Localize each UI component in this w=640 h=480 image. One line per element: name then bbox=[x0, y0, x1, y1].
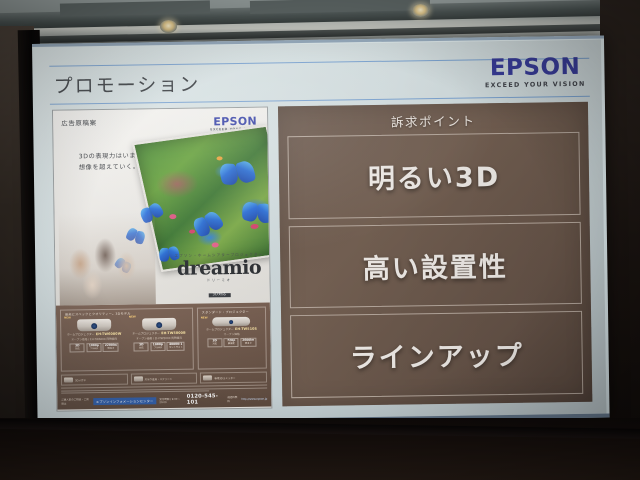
product-group-title: スタンダード・プロジェクター bbox=[202, 309, 249, 315]
projector-icon bbox=[212, 317, 250, 327]
contact-hours: 受付時間 / 9:00〜20:00 bbox=[159, 397, 184, 404]
new-badge: NEW bbox=[129, 315, 136, 318]
key-points-list: 明るい3D 高い設置性 ラインアップ bbox=[287, 132, 583, 398]
ad-copy: 3Dの表現力はいま。 想像を超えていく。 bbox=[79, 151, 143, 174]
spec-label: 対応 bbox=[75, 347, 80, 350]
projector-icon bbox=[142, 318, 176, 331]
contact-bar: ご購入前のご相談・ご質問は エプソンインフォメーションセンター 受付時間 / 9… bbox=[61, 393, 267, 408]
new-badge: NEW bbox=[64, 316, 71, 319]
butterfly-icon bbox=[190, 210, 224, 239]
epson-logo: EPSON EXCEED YOUR VISION bbox=[485, 56, 586, 89]
key-point-item-2: 高い設置性 bbox=[289, 222, 582, 309]
spec-chip: 3D対応 bbox=[207, 338, 222, 348]
accessory-label: 天吊り金具・スクリーン bbox=[145, 376, 172, 380]
spec-chip: 3D対応 bbox=[134, 342, 149, 352]
key-point-label: ラインアップ bbox=[349, 334, 524, 376]
product-model-number: EH-TW6000W bbox=[96, 332, 122, 336]
accessory-swatch bbox=[134, 376, 143, 381]
spec-label: フルHD bbox=[154, 346, 162, 349]
contact-phone: 0120-545-101 bbox=[187, 394, 225, 407]
spec-label: 対応 bbox=[139, 346, 144, 349]
spec-chip: 40000:1コントラスト bbox=[167, 341, 185, 351]
contact-center-name: エプソンインフォメーションセンター bbox=[93, 397, 157, 405]
spec-row: 3D対応 1080pフルHD 40000:1コントラスト bbox=[128, 341, 190, 351]
epson-tagline: EXCEED YOUR VISION bbox=[485, 81, 586, 89]
accessory-swatch bbox=[203, 375, 212, 380]
product-prefix: ホームプロジェクター bbox=[206, 327, 234, 331]
ad-mockup-visual: 広告原稿案 EPSON EXCEED YOUR VISION 3Dの表現力はいま… bbox=[53, 108, 270, 306]
spec-label: コントラスト bbox=[169, 345, 183, 348]
key-point-label: 明るい3D bbox=[368, 155, 501, 196]
family-photo bbox=[59, 212, 156, 305]
key-point-label: 高い設置性 bbox=[363, 244, 509, 285]
projection-screen: プロモーション EPSON EXCEED YOUR VISION 広告原稿案 E… bbox=[32, 36, 610, 426]
ad-copy-line-1: 3Dの表現力はいま。 bbox=[79, 151, 143, 163]
product-subnote: オープン価格 / EH-TW5000 同時発売 bbox=[128, 335, 190, 340]
spec-label: フルHD bbox=[90, 347, 98, 350]
contact-url: http://www.epson.jp bbox=[241, 398, 267, 401]
accessory-item: 専用3Dエミッター bbox=[200, 372, 267, 384]
product-prefix: ホームプロジェクター bbox=[67, 332, 95, 336]
ad-mockup-label: 広告原稿案 bbox=[61, 117, 97, 128]
butterfly-icon bbox=[217, 160, 256, 186]
spec-label: 明るさ bbox=[107, 346, 114, 349]
page-title: プロモーション bbox=[53, 70, 200, 99]
butterfly-icon bbox=[242, 201, 270, 224]
product-card: NEW ホームプロジェクター EH-TW510S オープン価格 3D対応 720… bbox=[200, 317, 264, 348]
product-group-standard: スタンダード・プロジェクター NEW ホームプロジェクター EH-TW510S … bbox=[197, 307, 267, 370]
spec-row: 3D対応 1080pフルHD 2200lm明るさ bbox=[63, 342, 125, 352]
spec-label: 解像度 bbox=[228, 342, 235, 345]
ad-copy-line-2: 想像を超えていく。 bbox=[79, 162, 143, 174]
key-point-item-3: ラインアップ bbox=[290, 311, 583, 398]
product-subnote: オープン価格 / EH-TW6000 同時発売 bbox=[63, 336, 125, 341]
ad-mockup: 広告原稿案 EPSON EXCEED YOUR VISION 3Dの表現力はいま… bbox=[52, 107, 272, 412]
presentation-slide: プロモーション EPSON EXCEED YOUR VISION 広告原稿案 E… bbox=[35, 40, 606, 422]
accessory-swatch bbox=[64, 377, 73, 382]
spec-chip: 720p解像度 bbox=[224, 337, 239, 347]
key-points-header: 訴求ポイント bbox=[278, 109, 588, 133]
spec-label: 対応 bbox=[212, 342, 217, 345]
product-row: 最高にスペックとクオリティー。3Dモデル NEW ホームプロジェクター EH-T… bbox=[60, 307, 267, 372]
accessory-label: 3Dメガネ bbox=[75, 378, 86, 382]
ad-product-lineup: 最高にスペックとクオリティー。3Dモデル NEW ホームプロジェクター EH-T… bbox=[56, 302, 272, 409]
product-group-premium: 最高にスペックとクオリティー。3Dモデル NEW ホームプロジェクター EH-T… bbox=[60, 308, 194, 372]
accessory-row: 3Dメガネ 天吊り金具・スクリーン 専用3Dエミッター bbox=[61, 372, 267, 386]
dreamio-branding: エプソン・ホームシアタープロジェクター dreamio ドリーミオ 3D対応 bbox=[174, 254, 263, 299]
spec-label: 明るさ bbox=[245, 341, 252, 344]
dreamio-3d-chip: 3D対応 bbox=[208, 293, 230, 297]
contact-lead: ご購入前のご相談・ご質問は bbox=[61, 398, 90, 406]
product-prefix: ホームプロジェクター bbox=[132, 331, 160, 335]
spec-chip: 3D対応 bbox=[70, 343, 85, 353]
spec-row: 3D対応 720p解像度 2600lm明るさ bbox=[200, 337, 263, 347]
key-points-panel: 訴求ポイント 明るい3D 高い設置性 ラインアップ bbox=[278, 102, 592, 407]
epson-wordmark: EPSON bbox=[485, 56, 586, 80]
projector-icon bbox=[77, 319, 111, 332]
product-model-number: EH-TW510S bbox=[235, 327, 257, 331]
product-group-title: 最高にスペックとクオリティー。3Dモデル bbox=[65, 311, 131, 317]
spec-chip: 2200lm明るさ bbox=[103, 342, 119, 352]
product-subnote: オープン価格 bbox=[200, 331, 263, 336]
product-card: NEW ホームプロジェクター EH-TW6000W オープン価格 / EH-TW… bbox=[63, 317, 126, 369]
accessory-label: 専用3Dエミッター bbox=[214, 376, 235, 380]
screenshot-root: プロモーション EPSON EXCEED YOUR VISION 広告原稿案 E… bbox=[0, 0, 640, 480]
dreamio-wordmark: dreamio bbox=[174, 258, 263, 278]
spec-chip: 1080pフルHD bbox=[86, 343, 101, 353]
new-badge: NEW bbox=[201, 316, 208, 319]
spec-chip: 2600lm明るさ bbox=[240, 337, 256, 347]
contact-note: 通話料無料 bbox=[227, 395, 238, 403]
accessory-item: 天吊り金具・スクリーン bbox=[131, 373, 198, 385]
key-point-item-1: 明るい3D bbox=[287, 132, 580, 219]
spec-chip: 1080pフルHD bbox=[150, 342, 165, 352]
product-card: NEW ホームプロジェクター EH-TW5000B オープン価格 / EH-TW… bbox=[128, 316, 191, 368]
downlight-icon bbox=[160, 20, 177, 33]
accessory-item: 3Dメガネ bbox=[61, 374, 128, 386]
product-model-number: EH-TW5000B bbox=[161, 331, 186, 335]
